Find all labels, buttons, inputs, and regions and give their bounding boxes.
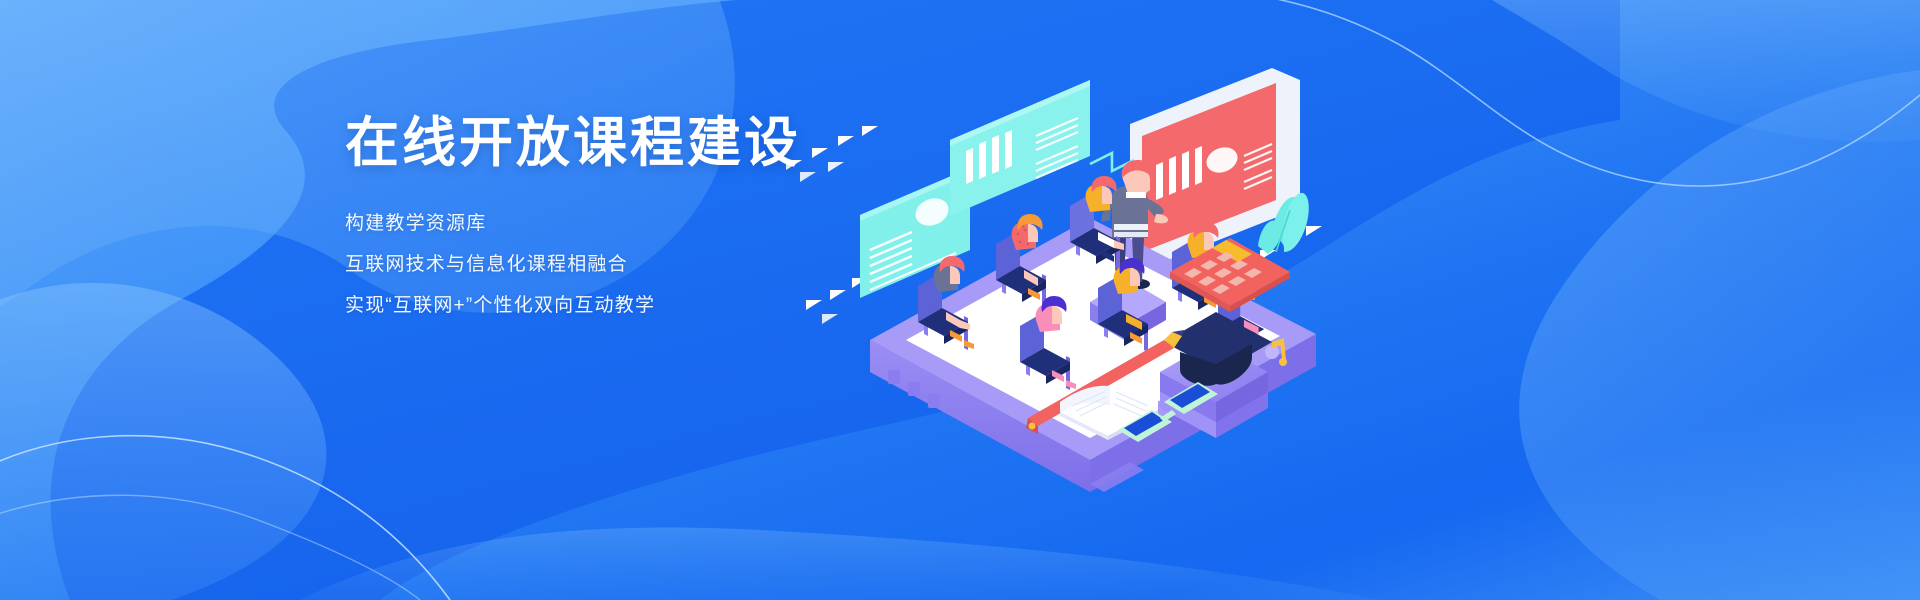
subtitle-line-1: 构建教学资源库: [345, 214, 965, 233]
page-title: 在线开放课程建设: [345, 112, 965, 176]
floating-screen-bar-chart: [950, 80, 1090, 216]
subtitle-line-3: 实现“互联网+”个性化双向互动教学: [345, 296, 965, 315]
banner-copy: 在线开放课程建设 构建教学资源库 互联网技术与信息化课程相融合 实现“互联网+”…: [345, 112, 965, 315]
subtitle-list: 构建教学资源库 互联网技术与信息化课程相融合 实现“互联网+”个性化双向互动教学: [345, 214, 965, 315]
subtitle-line-2: 互联网技术与信息化课程相融合: [345, 255, 965, 274]
hero-banner: 在线开放课程建设 构建教学资源库 互联网技术与信息化课程相融合 实现“互联网+”…: [0, 0, 1920, 600]
